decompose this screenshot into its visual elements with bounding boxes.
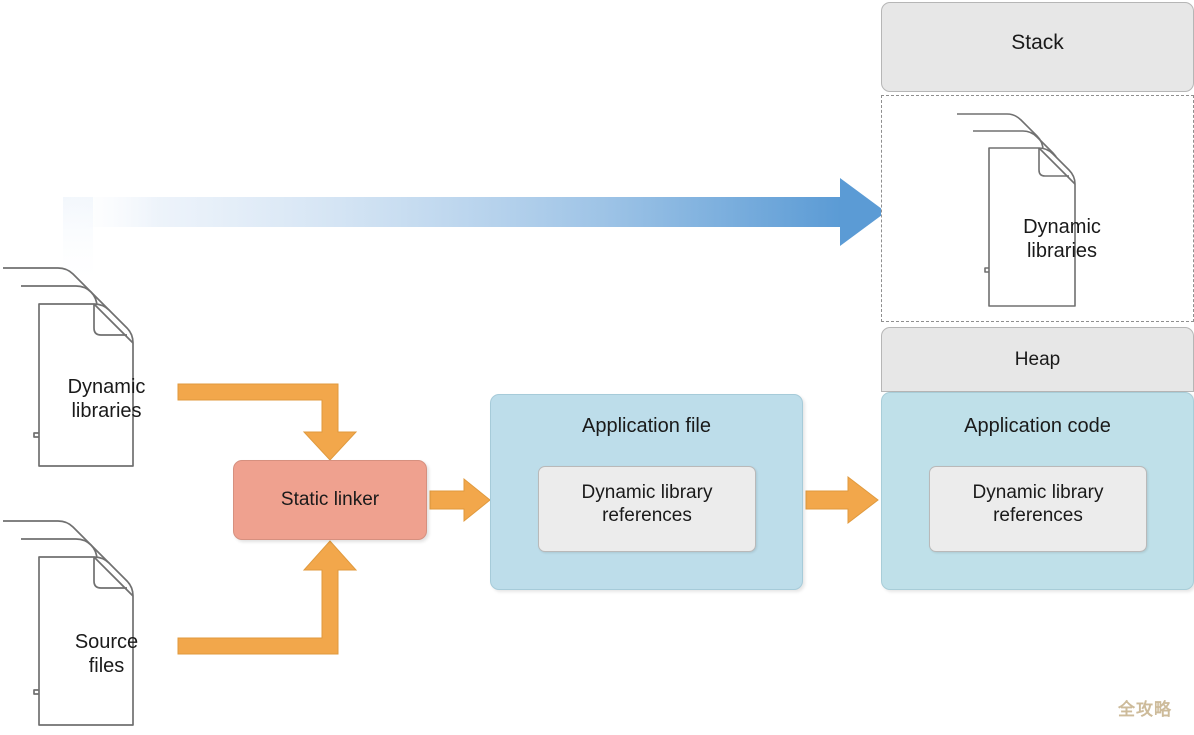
arrow-static-linker-to-application-file <box>430 479 490 521</box>
diagram-canvas: Stack Dynamic libraries Heap Application… <box>0 0 1194 735</box>
dynamic-libraries-memory-label: Dynamic libraries <box>1003 215 1121 264</box>
application-file-label: Application file <box>490 414 803 438</box>
document-stack-icon-source-files <box>0 518 190 733</box>
arrow-dyn-libraries-to-static-linker <box>178 384 356 460</box>
application-code-label: Application code <box>881 414 1194 438</box>
heap-label: Heap <box>881 348 1194 371</box>
document-stack-icon-memory <box>955 112 1135 312</box>
arrow-source-files-to-static-linker <box>178 541 356 654</box>
dynamic-libraries-source-label: Dynamic libraries <box>34 375 179 424</box>
application-file-dynamic-library-references-label: Dynamic library references <box>538 481 756 527</box>
watermark-text: 全攻略 <box>1118 700 1172 721</box>
application-code-dynamic-library-references-label: Dynamic library references <box>929 481 1147 527</box>
arrow-application-file-to-application-code <box>806 477 878 523</box>
document-stack-icon-dynamic-libraries <box>0 265 190 470</box>
source-files-label: Source files <box>34 630 179 679</box>
stack-label: Stack <box>881 30 1194 56</box>
static-linker-label: Static linker <box>233 488 427 511</box>
